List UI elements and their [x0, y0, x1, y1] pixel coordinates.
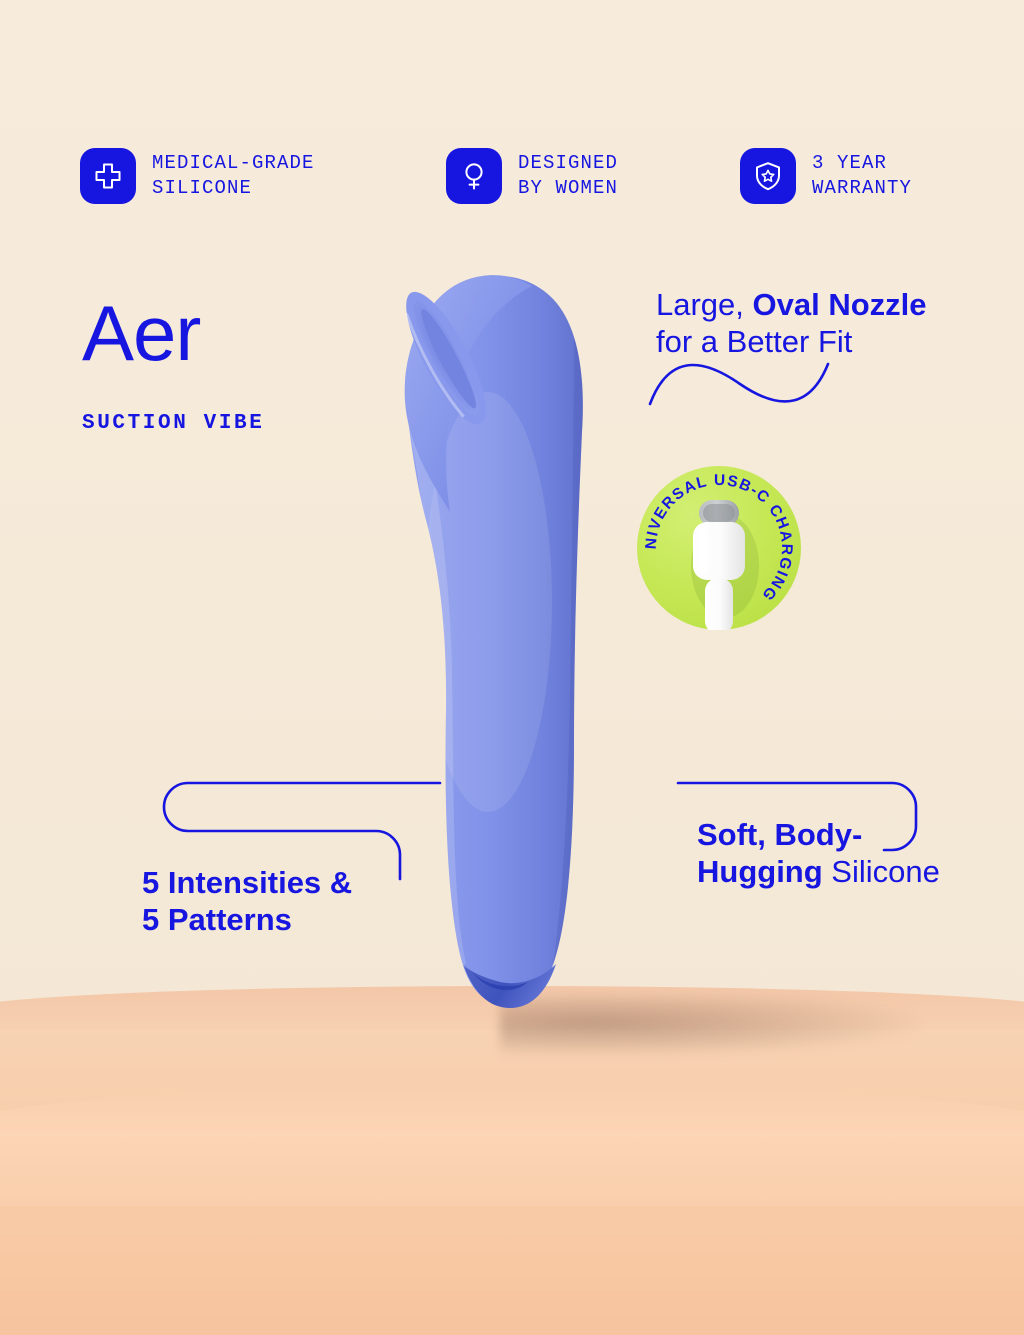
product-title-block: Aer SUCTION VIBE: [82, 292, 264, 435]
feature-badge-label: DESIGNED BY WOMEN: [518, 151, 618, 201]
callout-oval-nozzle: Large, Oval Nozzle for a Better Fit: [656, 286, 966, 360]
product-infographic: MEDICAL-GRADE SILICONE DESIGNED BY WOMEN…: [0, 0, 1024, 1335]
female-venus-symbol-icon: [446, 148, 502, 204]
feature-badge-3-year-warranty: 3 YEAR WARRANTY: [740, 148, 912, 204]
medical-cross-icon: [80, 148, 136, 204]
surface-highlight-band: [0, 1086, 1024, 1206]
callout-tail-text: Silicone: [823, 854, 940, 889]
feature-badge-label: 3 YEAR WARRANTY: [812, 151, 912, 201]
shield-star-icon: [740, 148, 796, 204]
feature-badge-row: MEDICAL-GRADE SILICONE DESIGNED BY WOMEN…: [80, 148, 960, 220]
feature-badge-designed-by-women: DESIGNED BY WOMEN: [446, 148, 618, 204]
feature-badge-medical-grade-silicone: MEDICAL-GRADE SILICONE: [80, 148, 315, 204]
callout-soft-silicone: Soft, Body-Hugging Silicone: [697, 816, 987, 890]
badge-content: UNIVERSAL USB-C CHARGING: [637, 466, 801, 630]
product-category: SUCTION VIBE: [82, 412, 264, 435]
callout-bold-text: Oval Nozzle: [753, 287, 927, 322]
callout-line-1: 5 Intensities &: [142, 864, 442, 901]
usb-c-charging-badge: UNIVERSAL USB-C CHARGING: [637, 466, 801, 630]
product-name: Aer: [82, 292, 264, 374]
callout-lead-text: Large,: [656, 287, 753, 322]
callout-tail-text: for a Better Fit: [656, 324, 852, 359]
callout-line-2: 5 Patterns: [142, 901, 442, 938]
feature-badge-label: MEDICAL-GRADE SILICONE: [152, 151, 315, 201]
callout-intensities-patterns: 5 Intensities & 5 Patterns: [142, 864, 442, 938]
